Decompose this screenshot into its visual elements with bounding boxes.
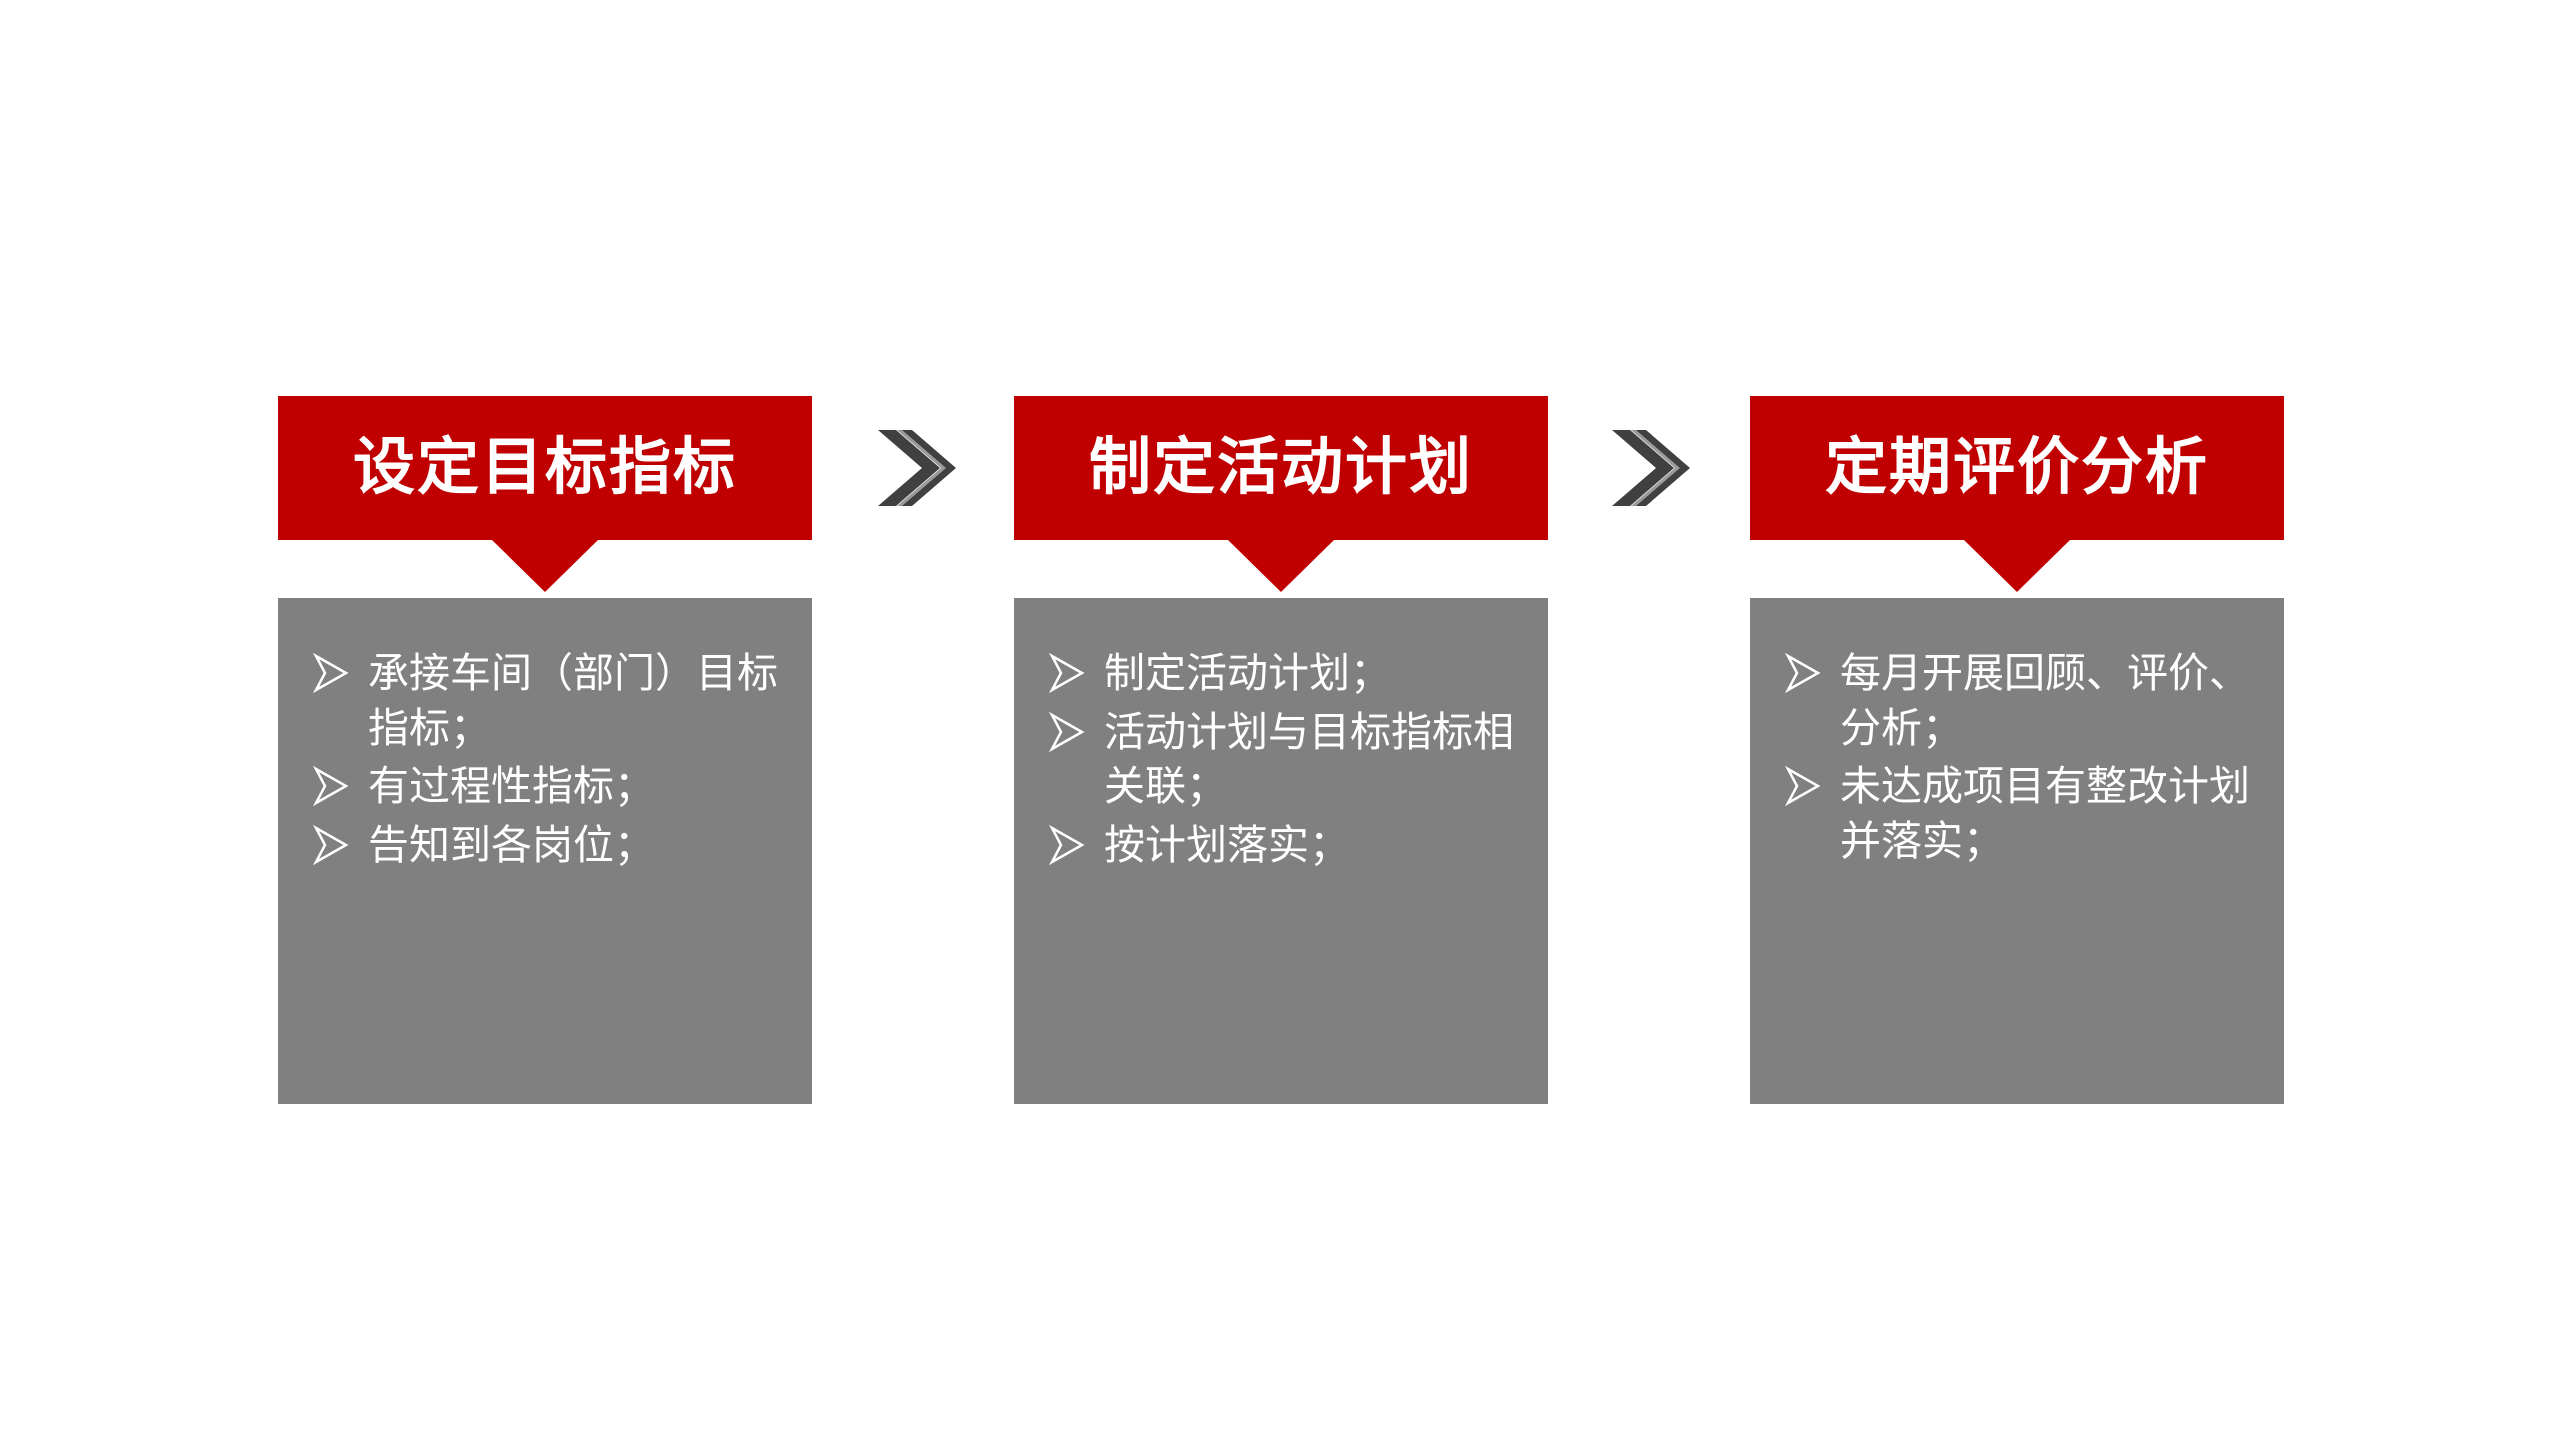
step-2-header-box[interactable]: 制定活动计划 xyxy=(1014,396,1548,540)
step-3-body: 每月开展回顾、评价、分析； 未达成项目有整改计划并落实； xyxy=(1750,598,2284,1104)
step-3-header-notch xyxy=(1964,540,2070,592)
arrow-bullet-icon xyxy=(1780,646,1826,700)
arrow-bullet-icon xyxy=(308,646,354,700)
list-item-text: 承接车间（部门）目标指标； xyxy=(368,646,786,755)
step-1-header-box[interactable]: 设定目标指标 xyxy=(278,396,812,540)
list-item-text: 按计划落实； xyxy=(1104,818,1522,873)
arrow-bullet-icon xyxy=(1044,705,1090,759)
step-2-title: 制定活动计划 xyxy=(1089,437,1473,499)
step-1-title: 设定目标指标 xyxy=(353,437,737,499)
list-item: 未达成项目有整改计划并落实； xyxy=(1776,759,2258,868)
list-item: 有过程性指标； xyxy=(304,759,786,814)
arrow-bullet-icon xyxy=(308,818,354,872)
step-2-body: 制定活动计划； 活动计划与目标指标相关联； xyxy=(1014,598,1548,1104)
step-3-bullet-list: 每月开展回顾、评价、分析； 未达成项目有整改计划并落实； xyxy=(1776,646,2258,868)
step-3-title: 定期评价分析 xyxy=(1825,437,2209,499)
list-item-text: 有过程性指标； xyxy=(368,759,786,814)
list-item-text: 活动计划与目标指标相关联； xyxy=(1104,705,1522,814)
step-1-body: 承接车间（部门）目标指标； 有过程性指标； xyxy=(278,598,812,1104)
list-item-text: 制定活动计划； xyxy=(1104,646,1522,701)
list-item-text: 告知到各岗位； xyxy=(368,818,786,873)
list-item: 按计划落实； xyxy=(1040,818,1522,873)
list-item: 每月开展回顾、评价、分析； xyxy=(1776,646,2258,755)
step-2-header-notch xyxy=(1228,540,1334,592)
arrow-bullet-icon xyxy=(308,759,354,813)
step-2-header[interactable]: 制定活动计划 xyxy=(1014,396,1548,576)
arrow-bullet-icon xyxy=(1044,646,1090,700)
slide-canvas: 设定目标指标 承接车间（部门）目标指标； xyxy=(0,0,2560,1440)
arrow-bullet-icon xyxy=(1044,818,1090,872)
step-1-header-notch xyxy=(492,540,598,592)
step-1-bullet-list: 承接车间（部门）目标指标； 有过程性指标； xyxy=(304,646,786,872)
list-item-text: 未达成项目有整改计划并落实； xyxy=(1840,759,2258,868)
arrow-bullet-icon xyxy=(1780,759,1826,813)
list-item: 活动计划与目标指标相关联； xyxy=(1040,705,1522,814)
double-chevron-right-icon xyxy=(866,418,976,518)
double-chevron-right-icon xyxy=(1600,418,1710,518)
list-item: 告知到各岗位； xyxy=(304,818,786,873)
list-item-text: 每月开展回顾、评价、分析； xyxy=(1840,646,2258,755)
list-item: 承接车间（部门）目标指标； xyxy=(304,646,786,755)
step-3-header-box[interactable]: 定期评价分析 xyxy=(1750,396,2284,540)
list-item: 制定活动计划； xyxy=(1040,646,1522,701)
step-2-bullet-list: 制定活动计划； 活动计划与目标指标相关联； xyxy=(1040,646,1522,872)
step-3-header[interactable]: 定期评价分析 xyxy=(1750,396,2284,576)
step-1-header[interactable]: 设定目标指标 xyxy=(278,396,812,576)
